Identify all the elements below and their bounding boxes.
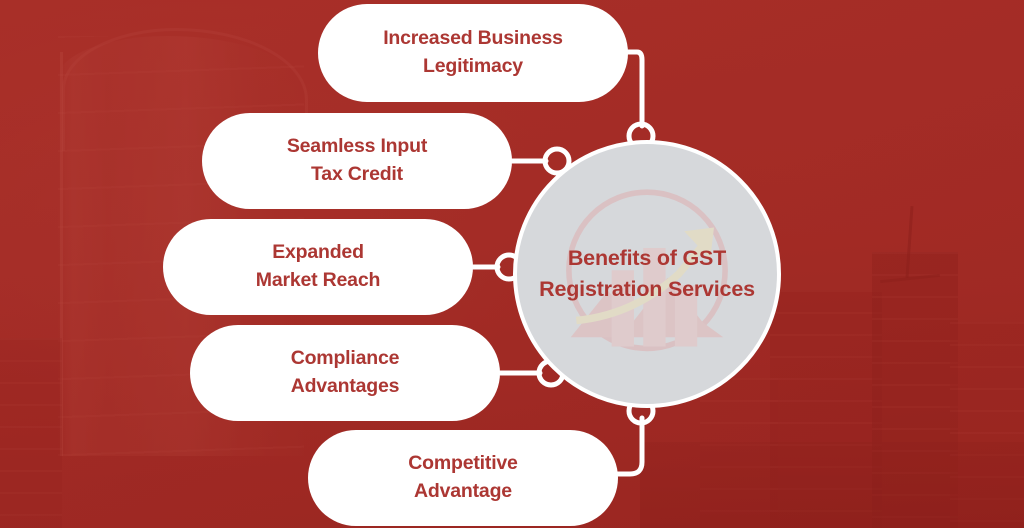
- benefit-pill-competitive-advantage[interactable]: Competitive Advantage: [308, 430, 618, 526]
- hub-title: Benefits of GST Registration Services: [533, 243, 761, 304]
- benefit-pill-expanded-market-reach[interactable]: Expanded Market Reach: [163, 219, 473, 315]
- benefit-pill-label: Expanded Market Reach: [256, 239, 380, 294]
- benefit-pill-label: Increased Business Legitimacy: [383, 25, 563, 80]
- benefit-pill-increased-business-legitimacy[interactable]: Increased Business Legitimacy: [318, 4, 628, 102]
- benefit-pill-label: Seamless Input Tax Credit: [287, 133, 427, 188]
- benefit-pill-label: Compliance Advantages: [291, 345, 400, 400]
- infographic-canvas: Benefits of GST Registration Services In…: [0, 0, 1024, 528]
- hub-circle: Benefits of GST Registration Services: [513, 140, 781, 408]
- benefit-pill-compliance-advantages[interactable]: Compliance Advantages: [190, 325, 500, 421]
- benefit-pill-label: Competitive Advantage: [408, 450, 517, 505]
- benefit-pill-seamless-input-tax-credit[interactable]: Seamless Input Tax Credit: [202, 113, 512, 209]
